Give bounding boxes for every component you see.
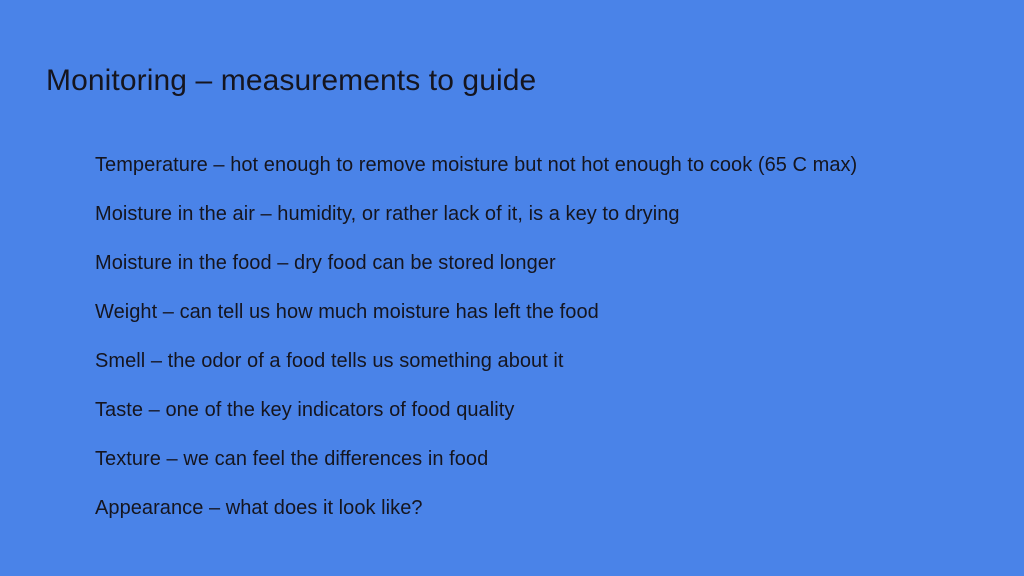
list-item: Smell – the odor of a food tells us some… <box>95 337 994 386</box>
list-item: Moisture in the food – dry food can be s… <box>95 239 994 288</box>
list-item: Moisture in the air – humidity, or rathe… <box>95 190 994 239</box>
list-item: Appearance – what does it look like? <box>95 484 994 533</box>
list-item: Temperature – hot enough to remove moist… <box>95 141 994 190</box>
bullet-list: Temperature – hot enough to remove moist… <box>95 141 994 533</box>
list-item: Taste – one of the key indicators of foo… <box>95 386 994 435</box>
presentation-slide: Monitoring – measurements to guide Tempe… <box>0 0 1024 576</box>
list-item: Texture – we can feel the differences in… <box>95 435 994 484</box>
list-item: Weight – can tell us how much moisture h… <box>95 288 994 337</box>
page-title: Monitoring – measurements to guide <box>46 62 536 100</box>
